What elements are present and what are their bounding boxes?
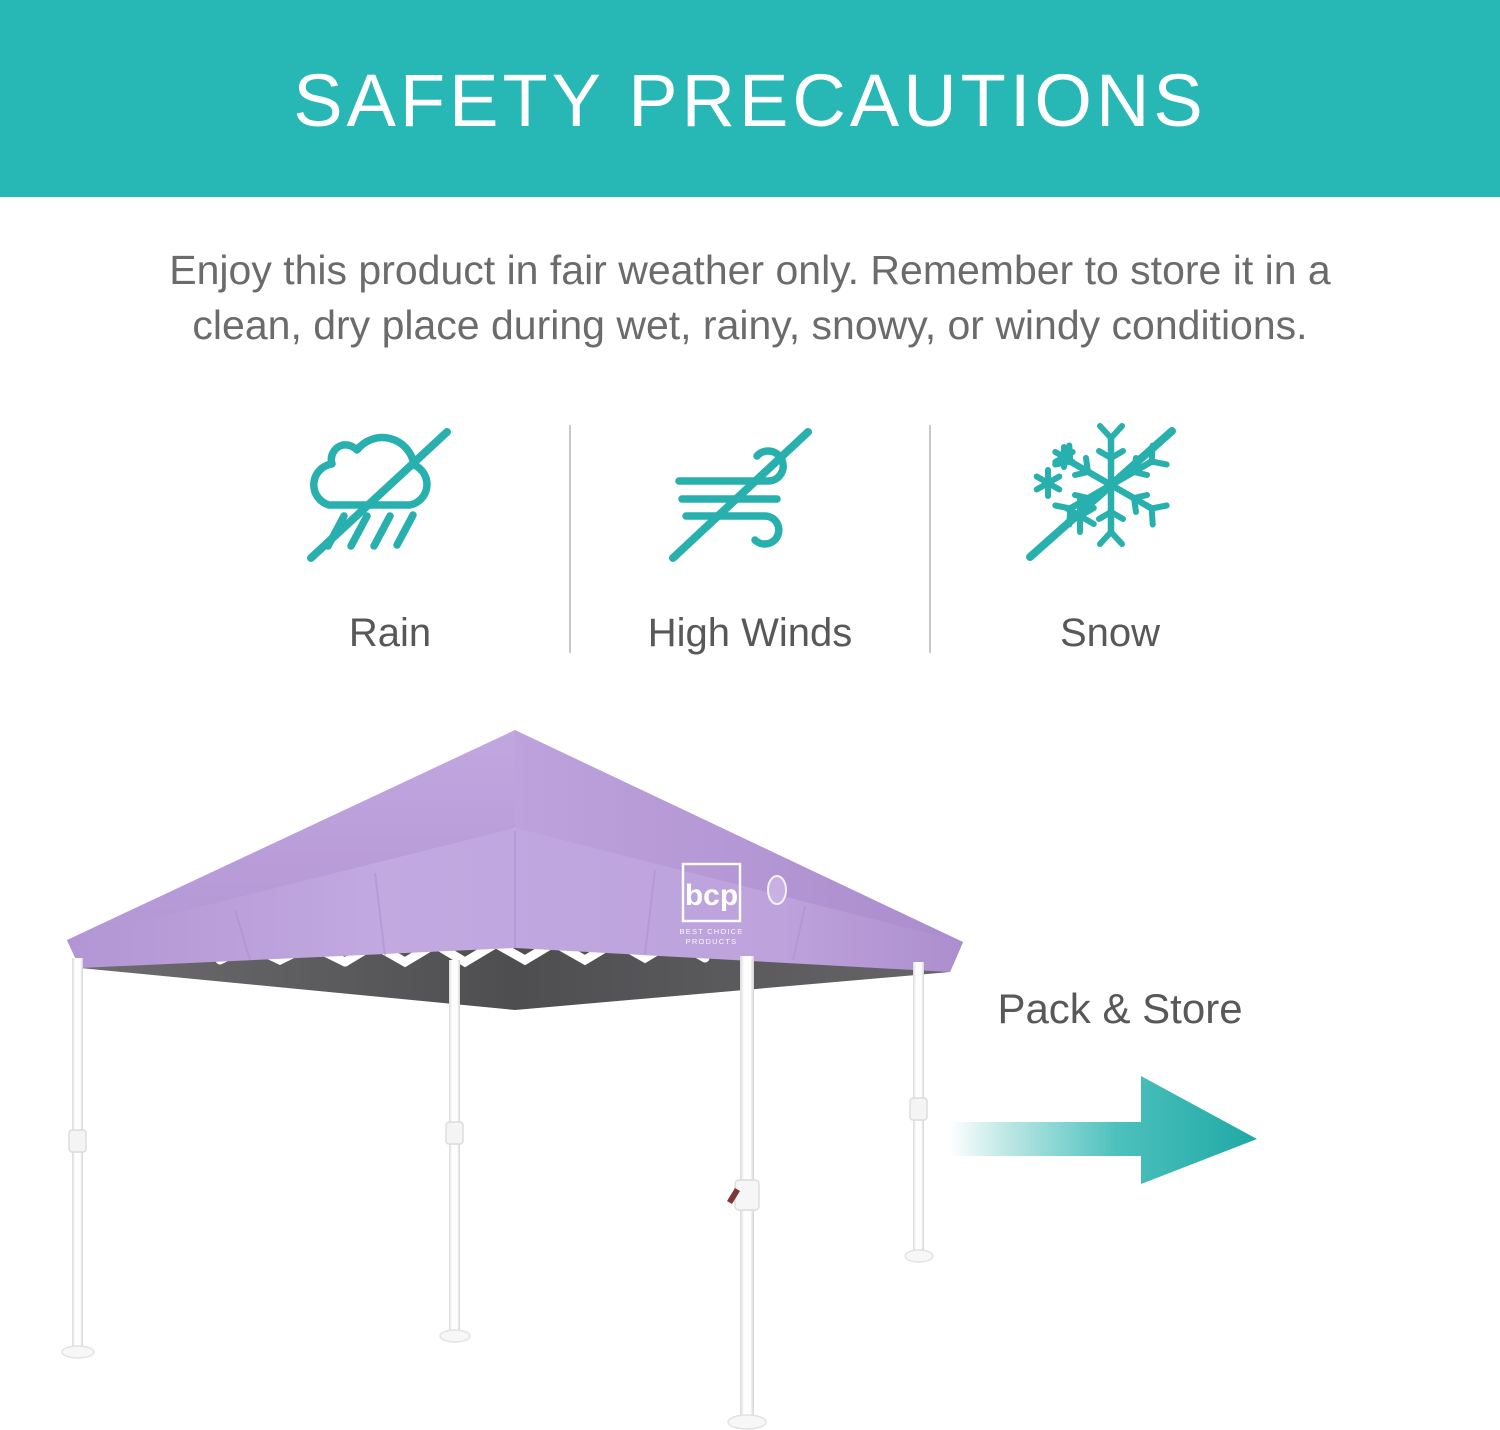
intro-paragraph: Enjoy this product in fair weather only.… <box>0 243 1500 354</box>
bcp-logo-tagline-2: PRODUCTS <box>686 937 738 946</box>
pack-store-label: Pack & Store <box>955 988 1285 1030</box>
weather-item-high-winds: High Winds <box>600 415 900 653</box>
no-wind-icon <box>655 415 845 580</box>
no-snow-icon <box>1015 415 1205 580</box>
canopy-tent-illustration: bcp BEST CHOICE PRODUCTS <box>45 710 1005 1430</box>
weather-label-snow: Snow <box>1060 613 1160 653</box>
arrow-right-icon <box>945 1070 1265 1190</box>
bcp-logo-mark: bcp <box>685 879 738 912</box>
product-illustration-area: bcp BEST CHOICE PRODUCTS <box>0 690 1500 1430</box>
leg-back-left <box>62 958 94 1358</box>
weather-item-rain: Rain <box>240 415 540 653</box>
weather-conditions-row: Rain High Winds <box>240 415 1260 665</box>
canopy-vent-grommet <box>768 876 786 904</box>
header-banner: SAFETY PRECAUTIONS <box>0 0 1500 197</box>
leg-front-center <box>727 956 766 1429</box>
leg-height-adjust-clip <box>735 1180 759 1210</box>
divider-1 <box>569 425 571 653</box>
divider-2 <box>929 425 931 653</box>
leg-back-center <box>440 960 470 1342</box>
weather-label-rain: Rain <box>349 613 431 653</box>
no-rain-icon <box>295 415 485 580</box>
bcp-logo-tagline-1: BEST CHOICE <box>680 927 744 936</box>
page-title: SAFETY PRECAUTIONS <box>293 64 1207 138</box>
weather-label-high-winds: High Winds <box>648 613 853 653</box>
safety-precautions-infographic: SAFETY PRECAUTIONS Enjoy this product in… <box>0 0 1500 1430</box>
intro-line-2: clean, dry place during wet, rainy, snow… <box>70 298 1430 353</box>
pack-and-store-block: Pack & Store <box>955 988 1285 1030</box>
intro-line-1: Enjoy this product in fair weather only.… <box>70 243 1430 298</box>
leg-back-right <box>905 962 933 1262</box>
weather-item-snow: Snow <box>960 415 1260 653</box>
